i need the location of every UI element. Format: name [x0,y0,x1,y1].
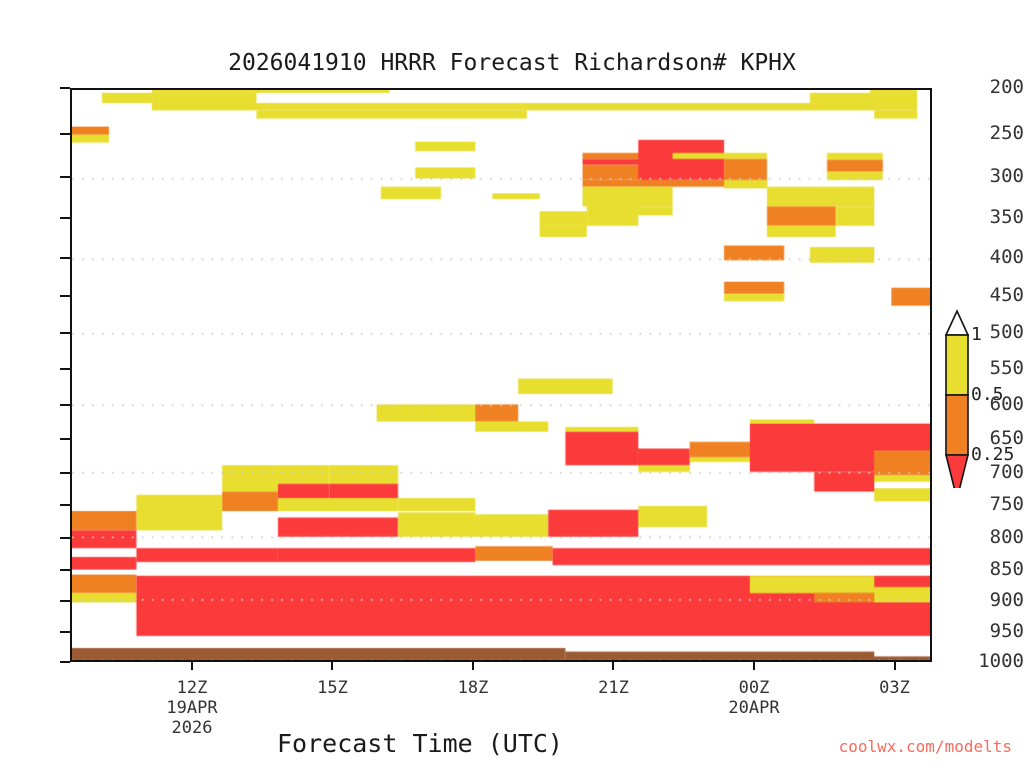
y-tick-label-850: 850 [966,560,1024,579]
source-watermark: coolwx.com/modelts [839,737,1012,756]
heatmap-canvas [72,90,930,660]
colorbar-under-arrow [946,455,968,488]
y-tick-label-250: 250 [966,124,1024,143]
y-tick-label-650: 650 [966,429,1024,448]
x-tick-time: 03Z [835,678,955,698]
chart-page: 2026041910 HRRR Forecast Richardson# KPH… [0,0,1024,768]
x-tick-label-00Z: 00Z20APR [694,678,814,718]
y-tick-mark-300 [60,176,70,178]
x-tick-label-12Z: 12Z19APR2026 [132,678,252,738]
y-tick-mark-750 [60,504,70,506]
x-tick-label-18Z: 18Z [413,678,533,698]
y-tick-label-550: 550 [966,359,1024,378]
x-tick-year: 2026 [132,718,252,738]
x-tick-time: 18Z [413,678,533,698]
y-tick-mark-900 [60,600,70,602]
y-tick-mark-600 [60,404,70,406]
x-tick-mark-12Z [191,662,193,670]
x-tick-mark-18Z [472,662,474,670]
y-tick-mark-650 [60,438,70,440]
colorbar-segment-0 [946,335,968,395]
y-tick-label-400: 400 [966,248,1024,267]
y-tick-label-300: 300 [966,167,1024,186]
y-tick-label-450: 450 [966,286,1024,305]
colorbar-segment-1 [946,395,968,455]
x-tick-date: 20APR [694,698,814,718]
x-tick-date: 19APR [132,698,252,718]
heatmap-plot-area[interactable] [70,88,932,662]
x-tick-label-21Z: 21Z [553,678,673,698]
x-tick-mark-21Z [612,662,614,670]
x-tick-time: 00Z [694,678,814,698]
y-tick-mark-350 [60,217,70,219]
y-tick-label-900: 900 [966,591,1024,610]
x-tick-mark-00Z [753,662,755,670]
y-tick-mark-1000 [60,661,70,663]
y-tick-mark-250 [60,133,70,135]
y-tick-label-200: 200 [966,78,1024,97]
y-tick-mark-700 [60,472,70,474]
y-tick-mark-850 [60,569,70,571]
x-tick-time: 12Z [132,678,252,698]
y-tick-mark-200 [60,87,70,89]
chart-title: 2026041910 HRRR Forecast Richardson# KPH… [0,50,1024,76]
x-tick-mark-15Z [331,662,333,670]
y-tick-label-800: 800 [966,528,1024,547]
y-tick-mark-400 [60,257,70,259]
y-tick-label-1000: 1000 [966,652,1024,671]
x-tick-time: 15Z [272,678,392,698]
y-tick-mark-800 [60,537,70,539]
y-tick-label-700: 700 [966,463,1024,482]
y-tick-label-950: 950 [966,622,1024,641]
y-tick-mark-450 [60,295,70,297]
y-tick-mark-500 [60,332,70,334]
colorbar-over-arrow [946,311,968,335]
x-tick-label-03Z: 03Z [835,678,955,698]
y-tick-label-600: 600 [966,395,1024,414]
x-tick-time: 21Z [553,678,673,698]
x-tick-mark-03Z [894,662,896,670]
x-tick-label-15Z: 15Z [272,678,392,698]
y-tick-mark-550 [60,368,70,370]
y-tick-label-350: 350 [966,208,1024,227]
y-tick-mark-950 [60,631,70,633]
y-tick-label-500: 500 [966,323,1024,342]
y-tick-label-750: 750 [966,495,1024,514]
